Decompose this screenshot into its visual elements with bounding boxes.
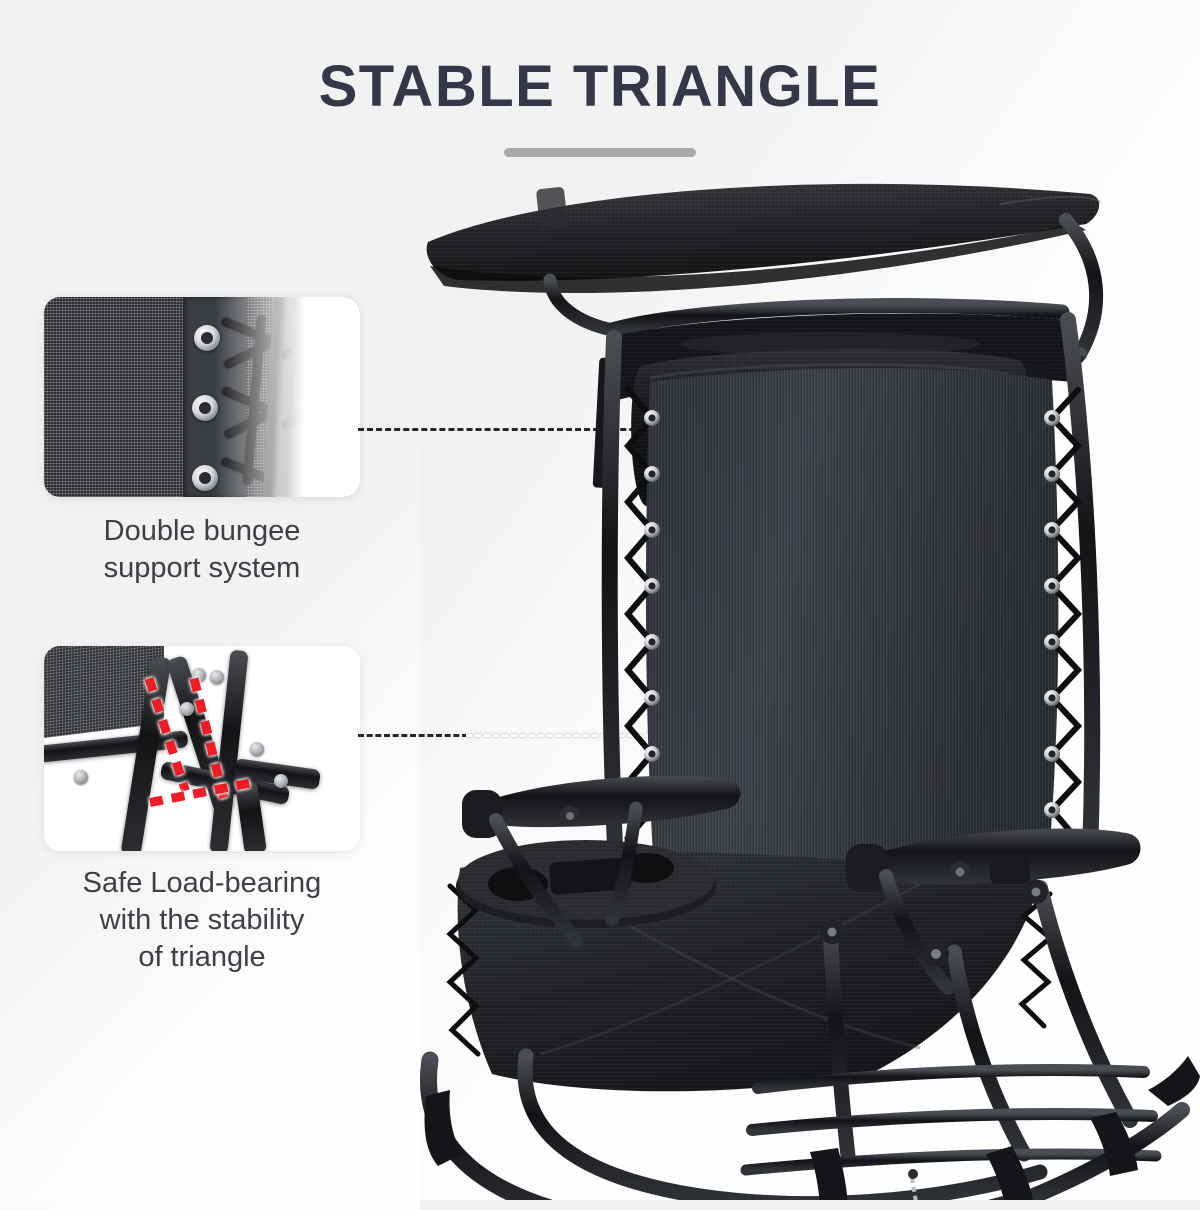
header: STABLE TRIANGLE: [0, 0, 1200, 157]
canopy-sunshade: [427, 184, 1100, 293]
callout-caption-stable-triangle: Safe Load-bearing with the stability of …: [44, 865, 360, 976]
bolt: [210, 670, 224, 684]
callout-photo-stable-triangle: [44, 646, 360, 851]
callout-caption-double-bungee: Double bungee support system: [44, 513, 360, 587]
caption-line: Double bungee: [44, 513, 360, 550]
caption-line: of triangle: [44, 939, 360, 976]
bolt: [250, 742, 264, 756]
callout-double-bungee: Double bungee support system: [44, 297, 360, 587]
product-image-zero-gravity-rocking-chair: [400, 168, 1200, 1200]
callout-photo-double-bungee: [44, 297, 360, 497]
caption-line: Safe Load-bearing: [44, 865, 360, 902]
bolt: [180, 702, 194, 716]
bolt: [274, 774, 288, 788]
photo-white-fade: [215, 297, 360, 497]
cup-holder-tray: [456, 840, 716, 928]
bolt: [74, 770, 88, 784]
page-title: STABLE TRIANGLE: [0, 58, 1200, 116]
title-divider: [504, 148, 696, 157]
caption-line: support system: [44, 550, 360, 587]
caption-line: with the stability: [44, 902, 360, 939]
callout-stable-triangle: Safe Load-bearing with the stability of …: [44, 646, 360, 976]
